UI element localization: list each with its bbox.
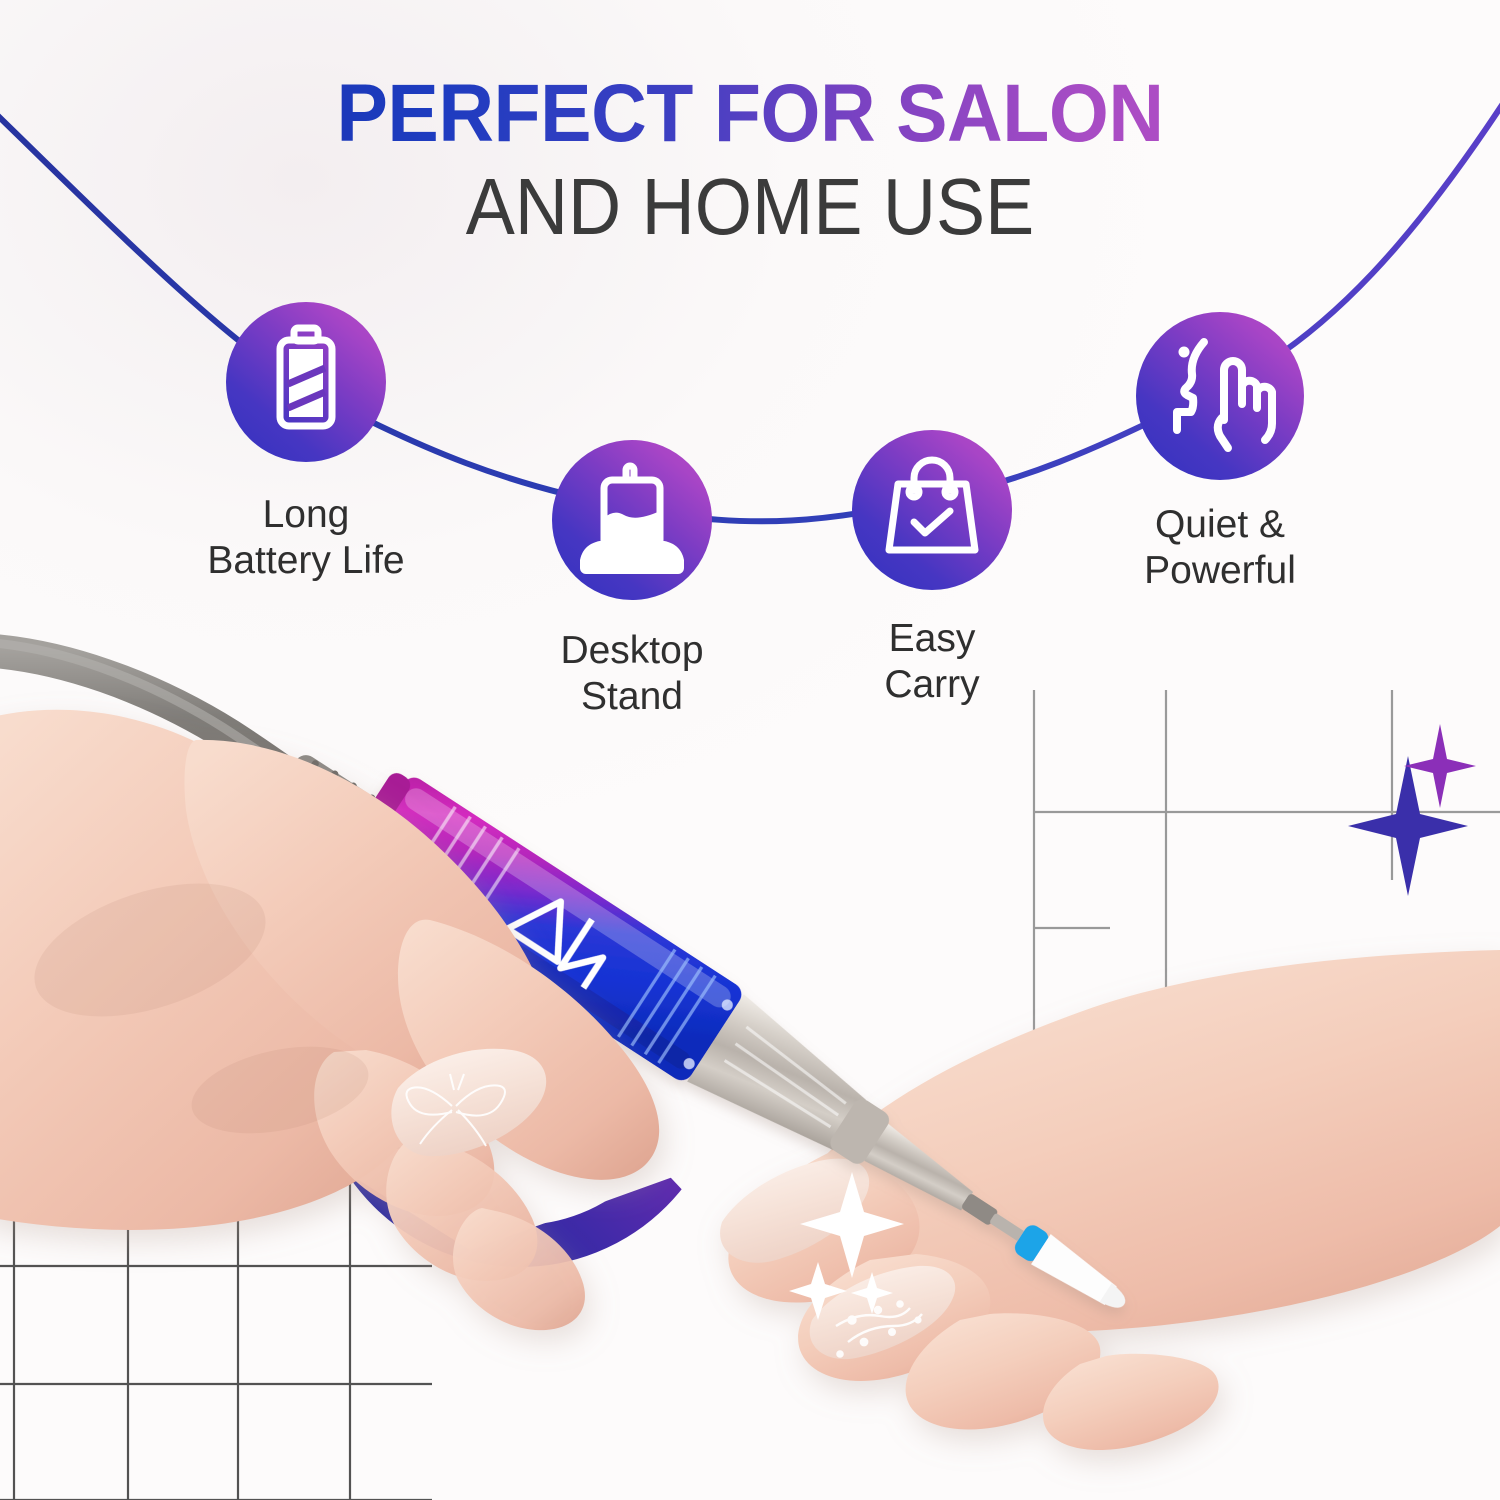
feature-quiet-powerful[interactable]: Quiet & Powerful [1136, 312, 1304, 480]
caption-line-1: Easy [722, 616, 1142, 662]
caption-line-1: Long [96, 492, 516, 538]
infographic-canvas: PERFECT FOR SALON AND HOME USE Long [0, 0, 1500, 1500]
feature-bubble [226, 302, 386, 462]
feature-caption: Long Battery Life [96, 492, 516, 584]
feature-bubble [1136, 312, 1304, 480]
brand-logo-mark [503, 884, 617, 988]
grid-bottom-left [0, 1122, 432, 1500]
feature-caption: Easy Carry [722, 616, 1142, 708]
feature-long-battery-life[interactable]: Long Battery Life [226, 302, 386, 462]
quiet-shush-face-icon [1136, 312, 1304, 480]
ceramic-drill-bit [982, 1202, 1134, 1318]
cable-strain-relief [274, 751, 410, 864]
feature-easy-carry[interactable]: Easy Carry [852, 430, 1012, 590]
caption-line-1: Quiet & [1010, 502, 1430, 548]
shopping-bag-check-icon [852, 430, 1012, 590]
caption-line-2: Powerful [1010, 548, 1430, 594]
nail-shine-sparkles [789, 1172, 904, 1320]
right-hand [720, 950, 1500, 1450]
product-photo [0, 620, 1500, 1500]
feature-caption: Quiet & Powerful [1010, 502, 1430, 594]
power-cable [0, 642, 322, 800]
caption-line-2: Battery Life [96, 538, 516, 584]
butterfly-nail-art [406, 1074, 505, 1146]
drill-stand-icon [552, 440, 712, 600]
feature-bubble [852, 430, 1012, 590]
feature-bubble [552, 440, 712, 600]
nail-drill-handpiece [336, 764, 1155, 1350]
left-hand [0, 710, 659, 1330]
sparkle-small [1404, 724, 1476, 808]
headline-block: PERFECT FOR SALON AND HOME USE [0, 74, 1500, 247]
battery-icon [226, 302, 386, 462]
headline-line-1: PERFECT FOR SALON [45, 74, 1455, 154]
headline-line-2: AND HOME USE [60, 168, 1440, 246]
caption-line-2: Carry [722, 662, 1142, 708]
feature-desktop-stand[interactable]: Desktop Stand [552, 440, 712, 600]
nail-glitter-art [836, 1301, 922, 1356]
